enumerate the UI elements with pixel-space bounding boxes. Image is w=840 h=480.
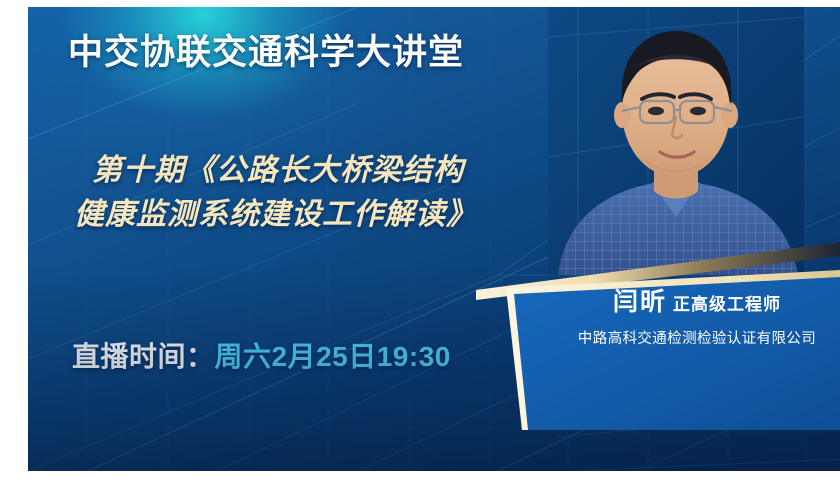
subtitle-line-2: 健康监测系统建设工作解读》 xyxy=(74,193,594,237)
broadcast-time-value: 周六2月25日19:30 xyxy=(215,341,451,372)
broadcast-time-label: 直播时间： xyxy=(72,341,215,372)
portrait-illustration xyxy=(548,7,804,275)
speaker-company: 中路高科交通检测检验认证有限公司 xyxy=(554,327,840,348)
poster-subtitle: 第十期《公路长大桥梁结构 健康监测系统建设工作解读》 xyxy=(74,149,594,237)
speaker-info-panel: 闫昕正高级工程师 中路高科交通检测检验认证有限公司 xyxy=(484,270,840,430)
speaker-name-row: 闫昕正高级工程师 xyxy=(554,290,840,315)
speaker-name: 闫昕 xyxy=(613,288,667,316)
subtitle-line-1: 第十期《公路长大桥梁结构 xyxy=(74,149,594,193)
speaker-text-block: 闫昕正高级工程师 中路高科交通检测检验认证有限公司 xyxy=(554,290,840,348)
page-title: 中交协联交通科学大讲堂 xyxy=(68,33,464,72)
speaker-portrait-photo xyxy=(548,7,804,275)
live-event-poster: 中交协联交通科学大讲堂 第十期《公路长大桥梁结构 健康监测系统建设工作解读》 直… xyxy=(0,0,840,480)
broadcast-time-row: 直播时间：周六2月25日19:30 xyxy=(72,335,451,375)
speaker-title: 正高级工程师 xyxy=(673,295,781,314)
